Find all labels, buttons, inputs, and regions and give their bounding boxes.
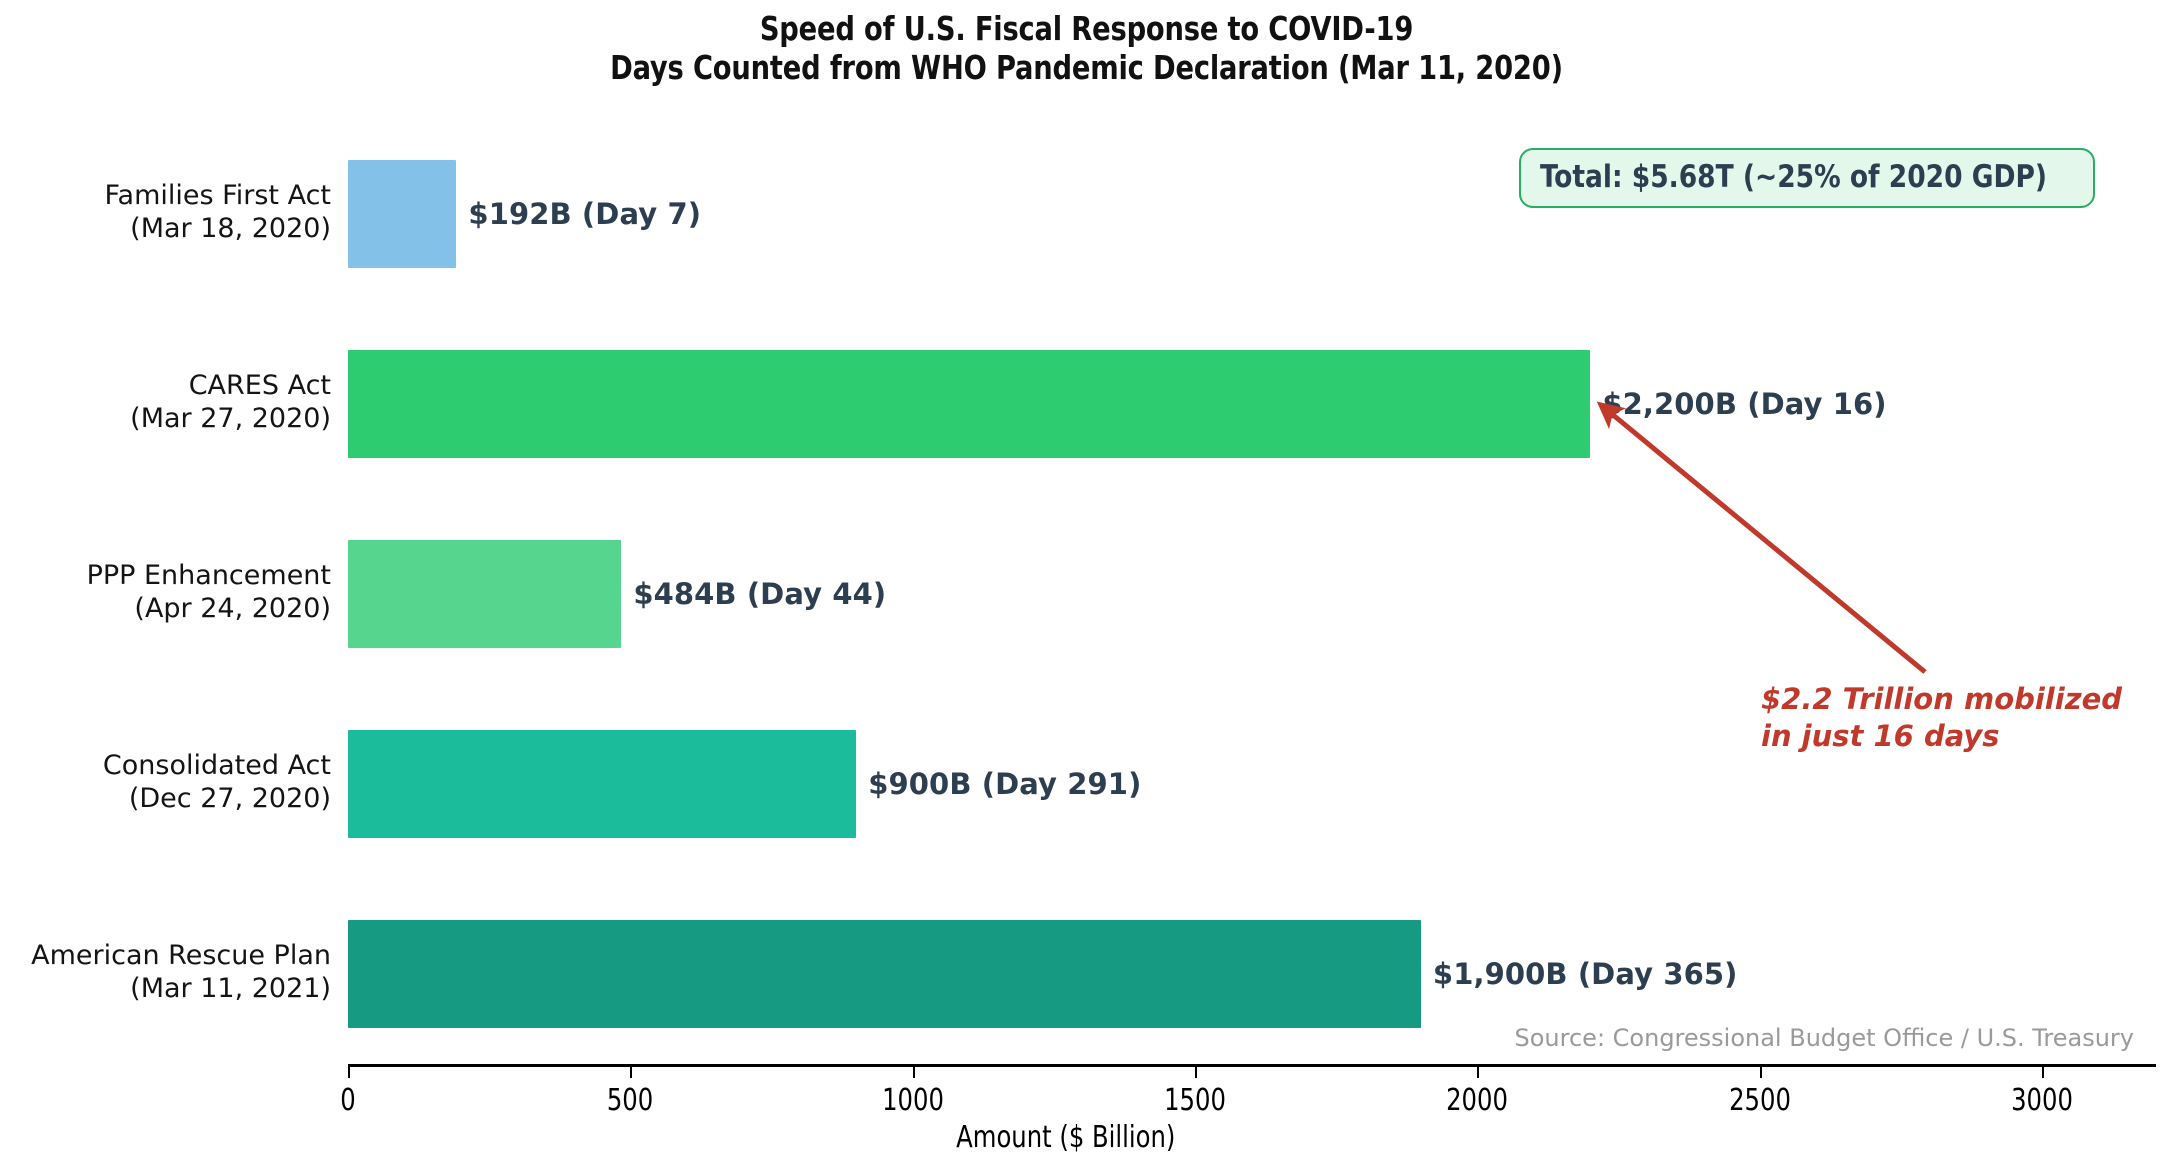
bar-value-american-rescue-plan: $1,900B (Day 365): [1433, 957, 1738, 991]
chart-title-line-1: Speed of U.S. Fiscal Response to COVID-1…: [87, 10, 2086, 49]
y-label-name: Consolidated Act: [103, 750, 331, 783]
y-axis-label-consolidated-act: Consolidated Act (Dec 27, 2020): [103, 750, 331, 816]
x-tick-2000: [1477, 1067, 1479, 1078]
y-label-name: PPP Enhancement: [87, 560, 331, 593]
y-label-date: (Apr 24, 2020): [87, 593, 331, 626]
total-badge-text: Total: $5.68T (~25% of 2020 GDP): [1540, 159, 2047, 195]
total-badge: Total: $5.68T (~25% of 2020 GDP): [1519, 148, 2095, 208]
bar-value-cares-act: $2,200B (Day 16): [1602, 387, 1886, 421]
chart-title: Speed of U.S. Fiscal Response to COVID-1…: [0, 10, 2173, 88]
source-note: Source: Congressional Budget Office / U.…: [1515, 1024, 2134, 1052]
bar-cares-act[interactable]: [348, 350, 1590, 458]
x-tick-1000: [913, 1067, 915, 1078]
y-label-name: American Rescue Plan: [31, 940, 331, 973]
x-axis-title: Amount ($ Billion): [0, 1120, 2173, 1155]
x-tick-500: [630, 1067, 632, 1078]
x-tick-label-2500: 2500: [1729, 1083, 1791, 1118]
chart-figure: Speed of U.S. Fiscal Response to COVID-1…: [0, 0, 2173, 1175]
x-tick-label-3000: 3000: [2011, 1083, 2073, 1118]
x-tick-label-2000: 2000: [1446, 1083, 1508, 1118]
y-label-date: (Mar 18, 2020): [105, 213, 332, 246]
y-axis-label-ppp-enhancement: PPP Enhancement (Apr 24, 2020): [87, 560, 331, 626]
bar-value-families-first-act: $192B (Day 7): [468, 197, 701, 231]
chart-title-line-2: Days Counted from WHO Pandemic Declarati…: [87, 49, 2086, 88]
annotation-line-2: in just 16 days: [1761, 718, 2122, 755]
y-label-date: (Dec 27, 2020): [103, 783, 331, 816]
x-tick-label-1000: 1000: [882, 1083, 944, 1118]
x-tick-1500: [1195, 1067, 1197, 1078]
x-axis-title-text: Amount ($ Billion): [956, 1120, 1175, 1155]
bar-american-rescue-plan[interactable]: [348, 920, 1421, 1028]
y-axis-label-american-rescue-plan: American Rescue Plan (Mar 11, 2021): [31, 940, 331, 1006]
annotation-line-1: $2.2 Trillion mobilized: [1761, 681, 2122, 718]
x-tick-label-500: 500: [607, 1083, 653, 1118]
y-axis-label-cares-act: CARES Act (Mar 27, 2020): [130, 370, 331, 436]
x-tick-3000: [2042, 1067, 2044, 1078]
annotation-text: $2.2 Trillion mobilized in just 16 days: [1761, 681, 2122, 755]
x-tick-2500: [1760, 1067, 1762, 1078]
bar-ppp-enhancement[interactable]: [348, 540, 621, 648]
y-axis-label-families-first-act: Families First Act (Mar 18, 2020): [105, 180, 332, 246]
bar-value-ppp-enhancement: $484B (Day 44): [633, 577, 886, 611]
y-label-date: (Mar 11, 2021): [31, 973, 331, 1006]
x-tick-0: [348, 1067, 350, 1078]
y-label-date: (Mar 27, 2020): [130, 403, 331, 436]
x-axis-line: [348, 1064, 2156, 1067]
bar-families-first-act[interactable]: [348, 160, 456, 268]
x-tick-label-0: 0: [340, 1083, 355, 1118]
bar-value-consolidated-act: $900B (Day 291): [868, 767, 1141, 801]
y-label-name: CARES Act: [130, 370, 331, 403]
y-label-name: Families First Act: [105, 180, 332, 213]
x-tick-label-1500: 1500: [1164, 1083, 1226, 1118]
bar-consolidated-act[interactable]: [348, 730, 856, 838]
